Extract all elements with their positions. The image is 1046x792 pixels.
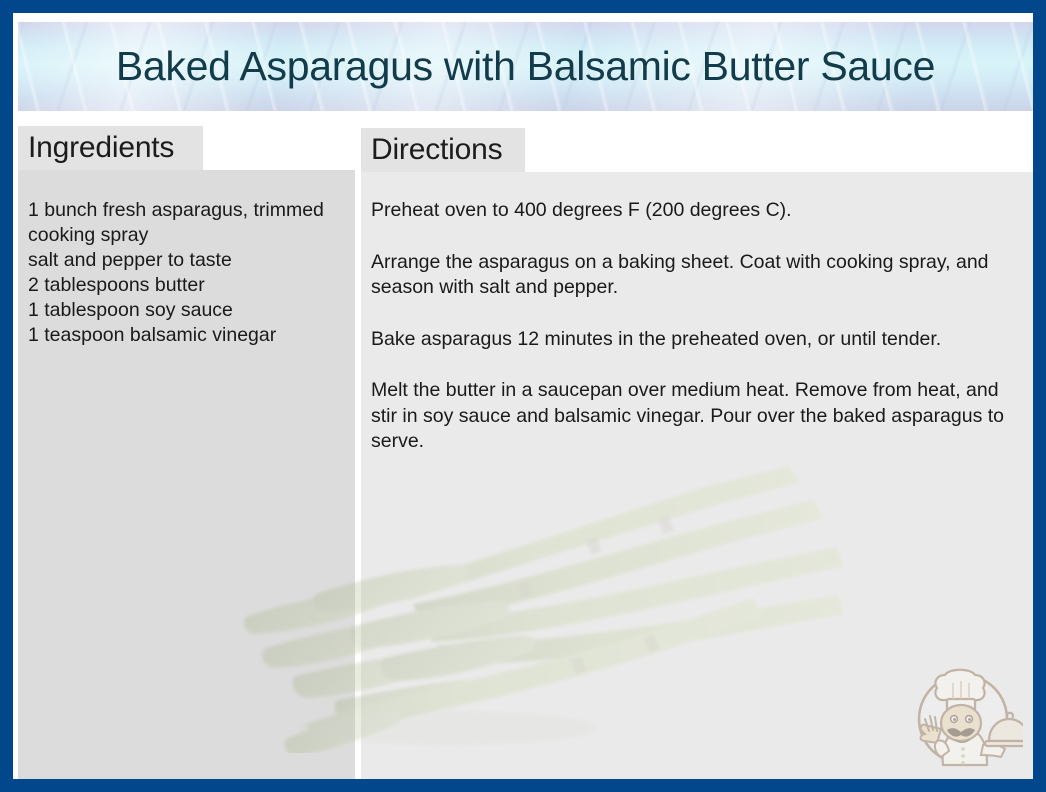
ingredients-tab: Ingredients xyxy=(18,126,203,170)
directions-heading: Directions xyxy=(371,133,502,167)
list-item: 1 teaspoon balsamic vinegar xyxy=(28,323,355,348)
direction-step: Bake asparagus 12 minutes in the preheat… xyxy=(371,327,1021,353)
list-item: salt and pepper to taste xyxy=(28,248,355,273)
directions-panel: Preheat oven to 400 degrees F (200 degre… xyxy=(361,172,1033,779)
list-item: cooking spray xyxy=(28,223,355,248)
recipe-card: Baked Asparagus with Balsamic Butter Sau… xyxy=(0,0,1046,792)
page-title: Baked Asparagus with Balsamic Butter Sau… xyxy=(18,22,1033,111)
list-item: 2 tablespoons butter xyxy=(28,273,355,298)
ingredients-heading: Ingredients xyxy=(28,131,174,165)
directions-tab: Directions xyxy=(361,128,525,172)
title-banner: Baked Asparagus with Balsamic Butter Sau… xyxy=(18,22,1033,111)
ingredients-panel: 1 bunch fresh asparagus, trimmed cooking… xyxy=(18,170,355,779)
direction-step: Preheat oven to 400 degrees F (200 degre… xyxy=(371,198,1021,224)
ingredients-list: 1 bunch fresh asparagus, trimmed cooking… xyxy=(28,198,355,348)
list-item: 1 tablespoon soy sauce xyxy=(28,298,355,323)
directions-steps: Preheat oven to 400 degrees F (200 degre… xyxy=(371,198,1021,455)
list-item: 1 bunch fresh asparagus, trimmed xyxy=(28,198,355,223)
direction-step: Arrange the asparagus on a baking sheet.… xyxy=(371,250,1021,301)
direction-step: Melt the butter in a saucepan over mediu… xyxy=(371,378,1021,455)
recipe-page: Baked Asparagus with Balsamic Butter Sau… xyxy=(13,13,1033,779)
